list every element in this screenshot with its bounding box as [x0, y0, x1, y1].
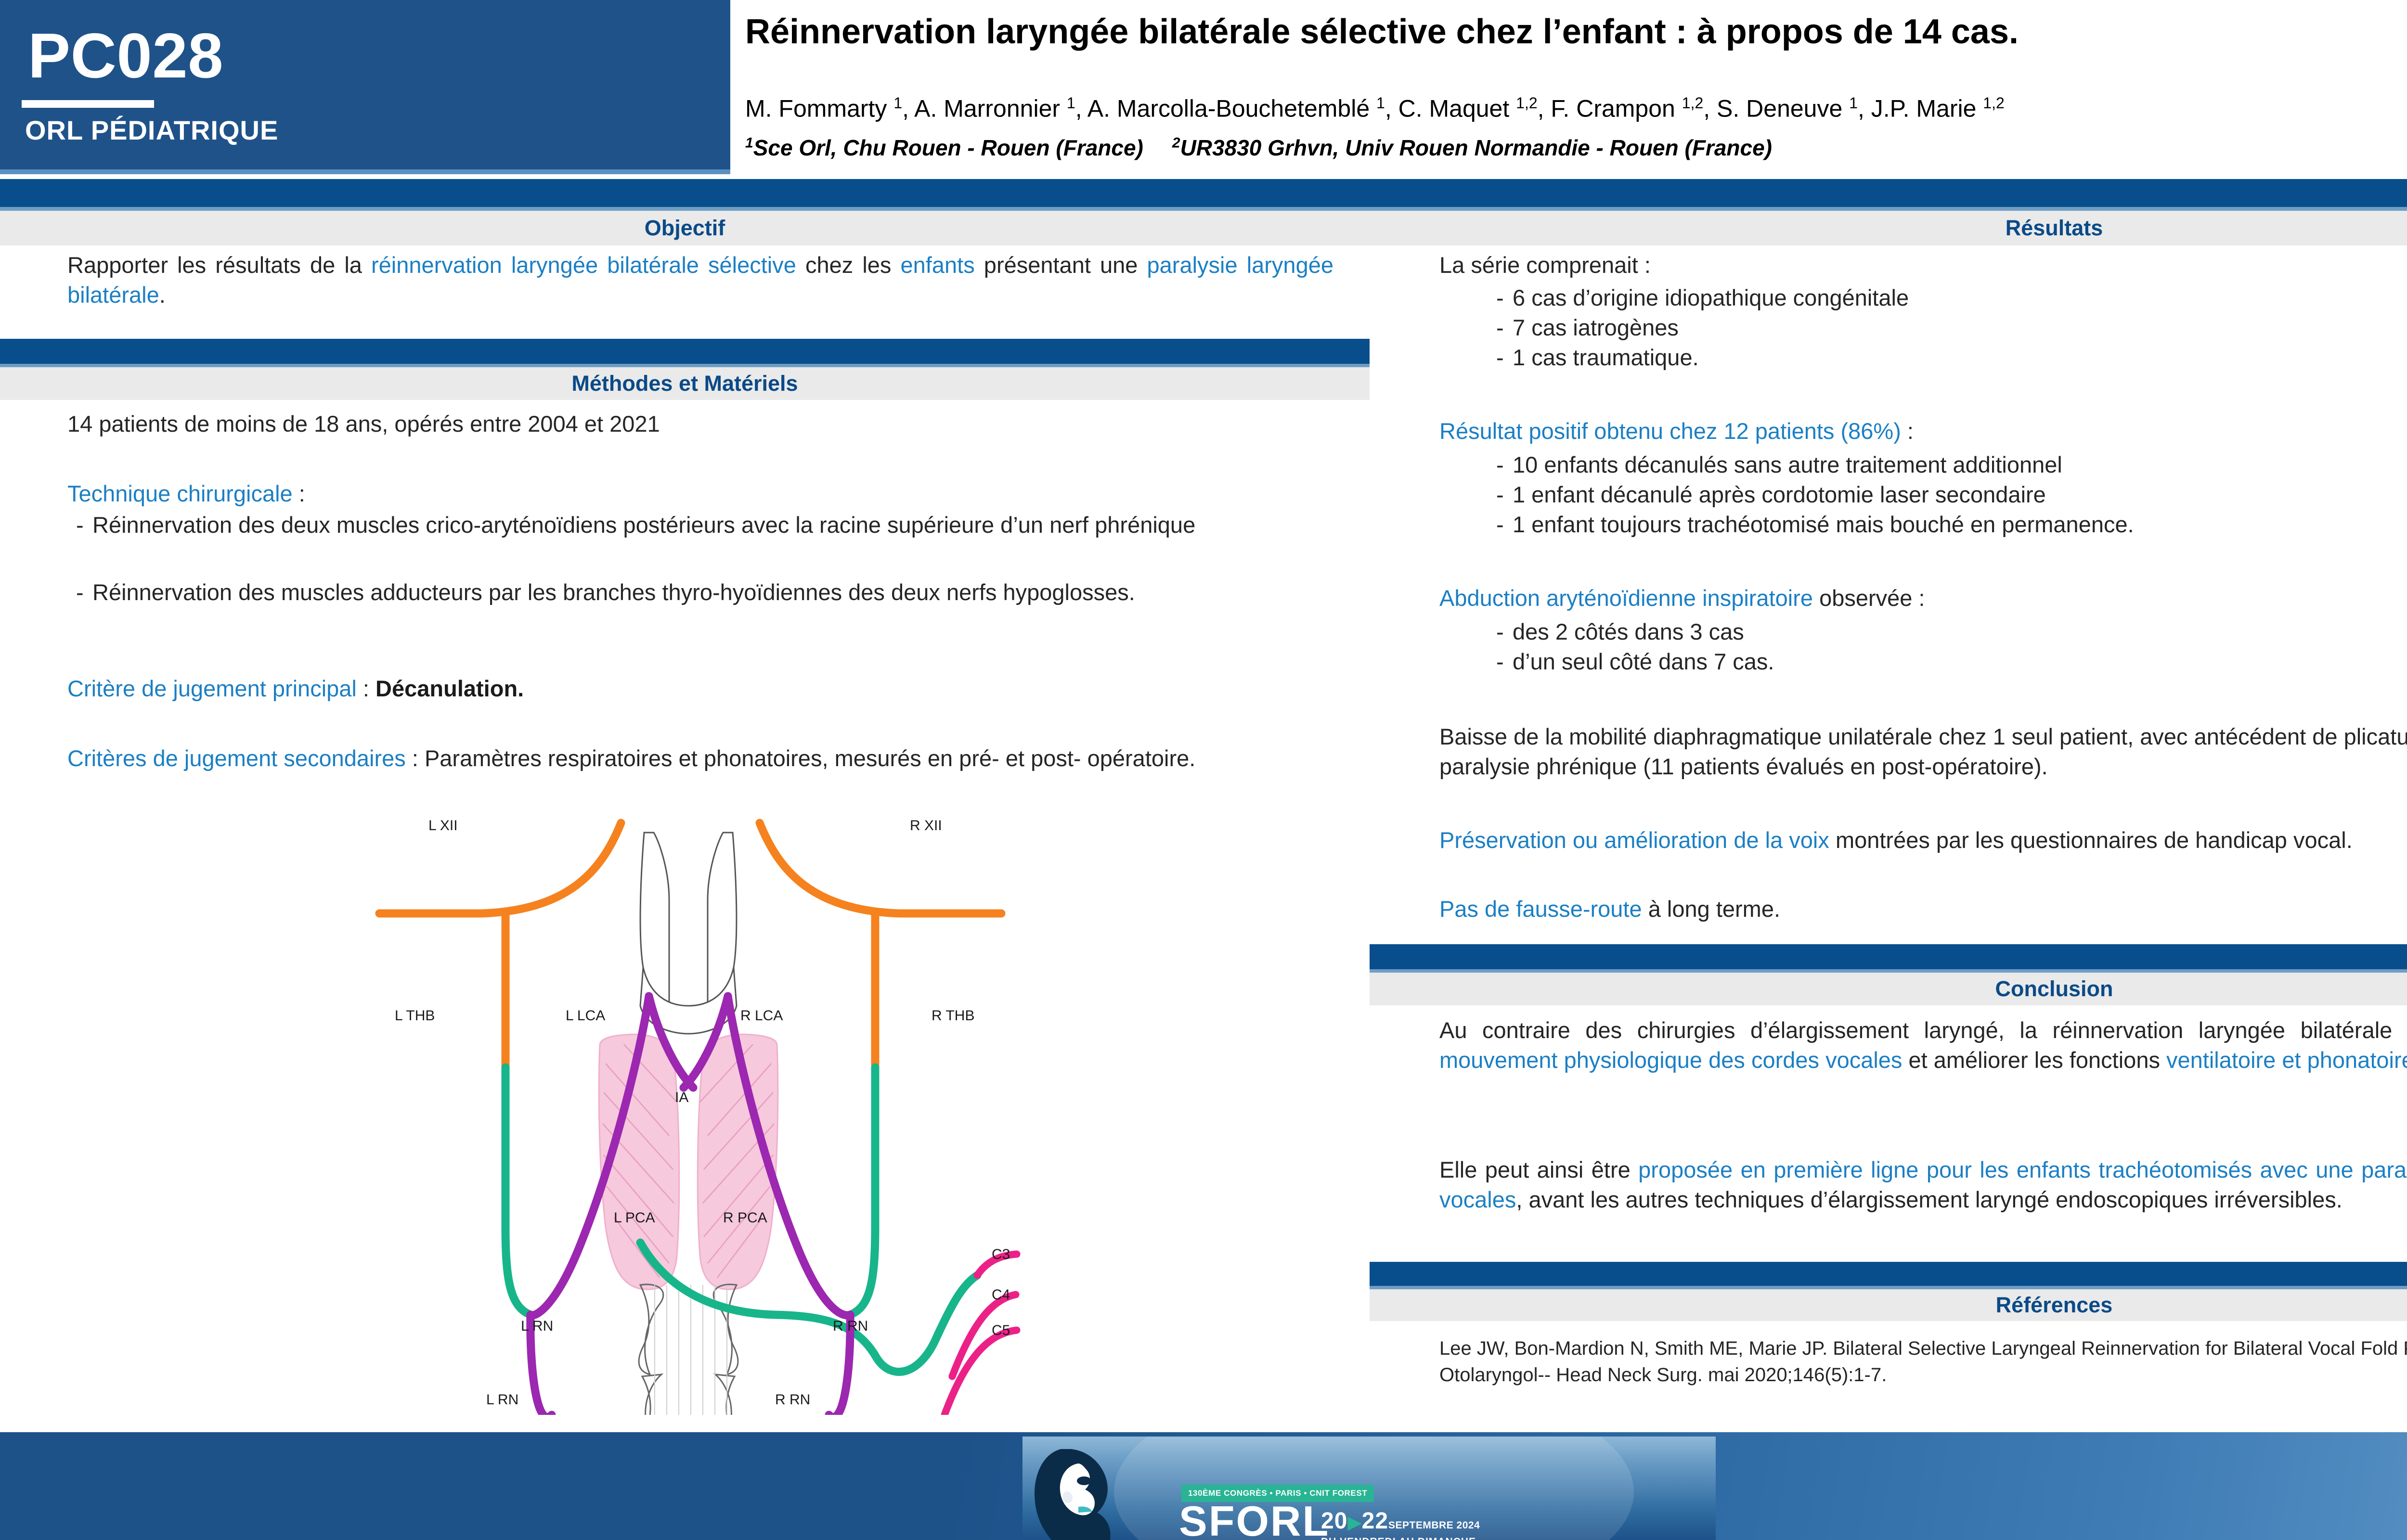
- label-r-rn-upper: R RN: [833, 1318, 868, 1334]
- diaphragm-paragraph: Baisse de la mobilité diaphragmatique un…: [1439, 722, 2407, 782]
- poster-code: PC028: [28, 19, 223, 92]
- conclusion-section-bar: [1370, 944, 2407, 969]
- criteres-secondaires-label: Critères de jugement secondaires: [67, 745, 406, 771]
- resultats-intro: La série comprenait :: [1439, 250, 2407, 280]
- resultat-positif-label: Résultat positif obtenu chez 12 patients…: [1439, 418, 1901, 444]
- references-section-bar-shadow: [1370, 1286, 2407, 1289]
- critere-principal-sep: :: [357, 676, 375, 701]
- criteres-secondaires-line: Critères de jugement secondaires : Param…: [67, 744, 1333, 773]
- label-l-xii: L XII: [428, 818, 458, 834]
- poster-category: ORL PÉDIATRIQUE: [25, 115, 278, 146]
- list-item: Réinnervation des muscles adducteurs par…: [67, 577, 1333, 607]
- conclusion-paragraph-2: Elle peut ainsi être proposée en premièr…: [1439, 1155, 2407, 1215]
- label-c5: C5: [992, 1322, 1010, 1338]
- criteres-secondaires-value: : Paramètres respiratoires et phonatoire…: [406, 745, 1196, 771]
- section-header-resultats: Résultats: [1370, 211, 2407, 245]
- aspiration-paragraph: Pas de fausse-route à long terme.: [1439, 894, 2407, 924]
- section-header-references: Références: [1370, 1289, 2407, 1321]
- poster-root: PC028 ORL PÉDIATRIQUE Réinnervation lary…: [0, 0, 2407, 1540]
- abduction-label: Abduction aryténoïdienne inspiratoire: [1439, 585, 1813, 611]
- list-item: des 2 côtés dans 3 cas: [1488, 617, 2407, 647]
- resultat-positif-list: 10 enfants décanulés sans autre traiteme…: [1488, 450, 2407, 539]
- methodes-bullet-2-wrap: Réinnervation des muscles adducteurs par…: [67, 577, 1333, 607]
- list-item: 1 cas traumatique.: [1488, 343, 2407, 372]
- objectif-text-4: .: [159, 282, 166, 308]
- voice-paragraph: Préservation ou amélioration de la voix …: [1439, 825, 2407, 855]
- resultat-positif-wrap: 10 enfants décanulés sans autre traiteme…: [1488, 450, 2407, 539]
- technique-colon: :: [293, 481, 305, 506]
- label-c3: C3: [992, 1246, 1010, 1262]
- author-5: , F. Crampon: [1538, 95, 1682, 122]
- author-4: , C. Maquet: [1385, 95, 1516, 122]
- author-4-affil: 1,2: [1516, 94, 1537, 112]
- list-item: 6 cas d’origine idiopathique congénitale: [1488, 283, 2407, 313]
- list-item: 1 enfant décanulé après cordotomie laser…: [1488, 480, 2407, 510]
- label-ia: IA: [675, 1090, 688, 1105]
- author-3: , A. Marcolla-Bouchetemblé: [1075, 95, 1376, 122]
- methodes-technique-subheading: Technique chirurgicale :: [67, 479, 1333, 509]
- abduction-items-list: des 2 côtés dans 3 cas d’un seul côté da…: [1488, 617, 2407, 677]
- label-r-rn-lower: R RN: [775, 1392, 810, 1408]
- author-1: M. Fommarty: [745, 95, 893, 122]
- list-item: 10 enfants décanulés sans autre traiteme…: [1488, 450, 2407, 480]
- objectif-highlight-2: enfants: [901, 252, 975, 278]
- date-to: 22: [1362, 1508, 1388, 1534]
- congress-dates: 20▶22SEPTEMBRE 2024 DU VENDREDI AU DIMAN…: [1321, 1508, 1509, 1540]
- label-r-xii: R XII: [910, 818, 942, 834]
- author-3-affil: 1: [1376, 94, 1385, 112]
- conclusion2-text-1: Elle peut ainsi être: [1439, 1157, 1638, 1182]
- list-item: d’un seul côté dans 7 cas.: [1488, 647, 2407, 677]
- label-c4: C4: [992, 1287, 1010, 1303]
- conclusion-text-1: Au contraire des chirurgies d’élargissem…: [1439, 1017, 2407, 1043]
- sforl-congress-logo: 130ÈME CONGRÈS • PARIS • CNIT FOREST SFO…: [1022, 1437, 1716, 1540]
- methodes-bullet-list-2: Réinnervation des muscles adducteurs par…: [67, 577, 1333, 607]
- author-5-affil: 1,2: [1682, 94, 1703, 112]
- methodes-bullet-list-1: Réinnervation des deux muscles crico-ary…: [67, 510, 1333, 540]
- top-section-bar: [0, 179, 2407, 207]
- badge-underline: [0, 169, 730, 174]
- affiliation-1-marker: 1: [745, 135, 753, 151]
- author-2-affil: 1: [1067, 94, 1075, 112]
- label-r-thb: R THB: [932, 1008, 974, 1024]
- critere-principal-value: Décanulation.: [375, 676, 524, 701]
- congress-month: SEPTEMBRE 2024: [1388, 1520, 1480, 1531]
- section-header-methodes: Méthodes et Matériels: [0, 367, 1370, 400]
- resultats-series-list: 6 cas d’origine idiopathique congénitale…: [1488, 283, 2407, 372]
- section-header-conclusion: Conclusion: [1370, 973, 2407, 1005]
- date-from: 20: [1321, 1508, 1347, 1534]
- poster-id-badge: PC028 ORL PÉDIATRIQUE: [0, 0, 730, 169]
- aspiration-label: Pas de fausse-route: [1439, 896, 1642, 922]
- author-6-affil: 1: [1849, 94, 1858, 112]
- list-item: 7 cas iatrogènes: [1488, 313, 2407, 343]
- larynx-diagram-svg: L XII R XII L THB R THB L LCA R LCA IA L…: [351, 804, 1025, 1415]
- poster-title: Réinnervation laryngée bilatérale sélect…: [745, 13, 2407, 51]
- label-l-pca: L PCA: [614, 1210, 655, 1226]
- conclusion-highlight-2: ventilatoire et phonatoire: [2166, 1047, 2407, 1073]
- larynx-reinnervation-diagram: L XII R XII L THB R THB L LCA R LCA IA L…: [351, 804, 1025, 1415]
- affiliation-1: Sce Orl, Chu Rouen - Rouen (France): [753, 135, 1143, 160]
- author-list: M. Fommarty 1, A. Marronnier 1, A. Marco…: [745, 94, 2407, 123]
- abduction-items-wrap: des 2 côtés dans 3 cas d’un seul côté da…: [1488, 617, 2407, 677]
- affiliation-2: UR3830 Grhvn, Univ Rouen Normandie - Rou…: [1180, 135, 1772, 160]
- aspiration-rest: à long terme.: [1642, 896, 1780, 922]
- objectif-text-3: présentant une: [975, 252, 1147, 278]
- sforl-wordmark: SFORL: [1179, 1500, 1330, 1540]
- congress-days: DU VENDREDI AU DIMANCHE: [1321, 1536, 1509, 1540]
- resultat-positif-colon: :: [1901, 418, 1914, 444]
- critere-principal-label: Critère de jugement principal: [67, 676, 357, 701]
- objectif-text-1: Rapporter les résultats de la: [67, 252, 371, 278]
- label-l-thb: L THB: [395, 1008, 435, 1024]
- voice-label: Préservation ou amélioration de la voix: [1439, 827, 1829, 853]
- label-l-rn-upper: L RN: [521, 1318, 553, 1334]
- affiliations: 1Sce Orl, Chu Rouen - Rouen (France)2UR3…: [745, 135, 2407, 161]
- resultats-series-wrap: 6 cas d’origine idiopathique congénitale…: [1488, 283, 2407, 372]
- reference-entry: Lee JW, Bon-Mardion N, Smith ME, Marie J…: [1439, 1335, 2407, 1388]
- author-7-affil: 1,2: [1983, 94, 2004, 112]
- resultat-positif-heading: Résultat positif obtenu chez 12 patients…: [1439, 416, 2407, 446]
- conclusion-paragraph-1: Au contraire des chirurgies d’élargissem…: [1439, 1015, 2407, 1075]
- author-1-affil: 1: [893, 94, 902, 112]
- list-item: 1 enfant toujours trachéotomisé mais bou…: [1488, 510, 2407, 539]
- objectif-paragraph: Rapporter les résultats de la réinnervat…: [67, 250, 1333, 310]
- methodes-section-bar: [0, 339, 1370, 364]
- methodes-section-bar-shadow: [0, 364, 1370, 367]
- pca-muscle-blocks: [599, 1034, 778, 1289]
- methodes-bullet-1-wrap: Réinnervation des deux muscles crico-ary…: [67, 510, 1333, 540]
- conclusion-section-bar-shadow: [1370, 969, 2407, 973]
- top-section-bar-shadow: [0, 207, 2407, 211]
- references-section-bar: [1370, 1262, 2407, 1286]
- label-l-lca: L LCA: [566, 1008, 605, 1024]
- conclusion2-text-2: , avant les autres techniques d’élargiss…: [1516, 1187, 2342, 1212]
- methodes-patients-line: 14 patients de moins de 18 ans, opérés e…: [67, 409, 1333, 439]
- label-r-lca: R LCA: [740, 1008, 783, 1024]
- list-item: Réinnervation des deux muscles crico-ary…: [67, 510, 1333, 540]
- technique-label: Technique chirurgicale: [67, 481, 293, 506]
- section-header-objectif: Objectif: [0, 211, 1370, 245]
- badge-divider: [22, 100, 154, 108]
- conclusion-text-2: et améliorer les fonctions: [1902, 1047, 2166, 1073]
- woman-profile-silhouette-icon: [1032, 1449, 1191, 1540]
- voice-rest: montrées par les questionnaires de handi…: [1829, 827, 2353, 853]
- objectif-text-2: chez les: [796, 252, 901, 278]
- author-2: , A. Marronnier: [902, 95, 1067, 122]
- label-l-rn-lower: L RN: [486, 1392, 518, 1408]
- critere-principal-line: Critère de jugement principal : Décanula…: [67, 674, 1333, 704]
- author-7: , J.P. Marie: [1858, 95, 1983, 122]
- objectif-highlight-1: réinnervation laryngée bilatérale sélect…: [371, 252, 796, 278]
- affiliation-2-marker: 2: [1172, 135, 1180, 151]
- abduction-rest: observée :: [1813, 585, 1925, 611]
- abduction-heading: Abduction aryténoïdienne inspiratoire ob…: [1439, 583, 2407, 613]
- label-r-pca: R PCA: [723, 1210, 767, 1226]
- author-6: , S. Deneuve: [1703, 95, 1849, 122]
- date-arrow-icon: ▶: [1347, 1513, 1361, 1533]
